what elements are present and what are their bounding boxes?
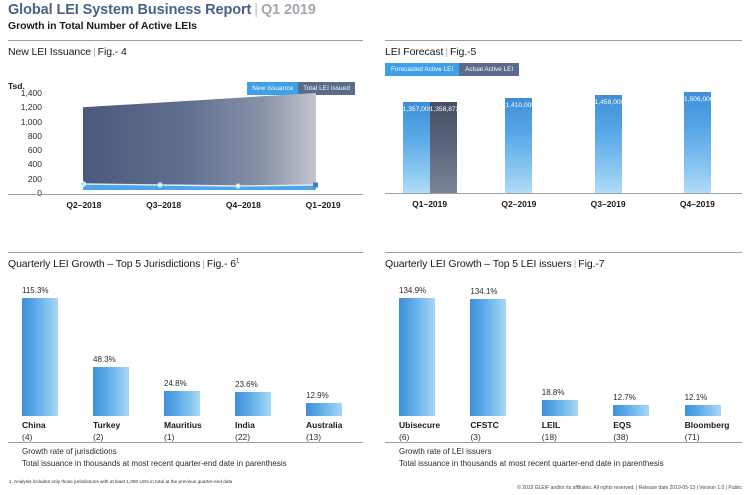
fig4-total-lei-area <box>83 93 316 190</box>
fig5-title-text: LEI Forecast <box>385 46 443 58</box>
fig4-x-axis: Q2–2018Q3–2018Q4–2018Q1–2019 <box>44 200 363 210</box>
fig4-y-tick: 800 <box>28 131 42 141</box>
title-separator: | <box>251 2 261 18</box>
page-title: Global LEI System Business Report|Q1 201… <box>8 2 316 18</box>
fig4-x-tick: Q3–2018 <box>124 200 204 210</box>
fig6-category-label: Australia <box>306 420 342 430</box>
fig6-bar: 24.8% <box>164 391 200 416</box>
report-period: Q1 2019 <box>261 2 316 18</box>
fig7-notes: Growth rate of LEI issuers Total issuanc… <box>399 446 664 469</box>
fig7-title: Quarterly LEI Growth – Top 5 LEI issuers… <box>385 258 742 270</box>
fig5-legend: Forecasted Active LEI Actual Active LEI <box>385 63 519 76</box>
fig6-title-separator: | <box>200 258 207 270</box>
fig6-bar-item: 48.3% <box>93 367 129 416</box>
fig5-bar-group: 1,357,0001,358,872 <box>403 102 457 193</box>
fig7-bar: 12.7% <box>613 405 649 416</box>
fig7-category-label: Ubisecure <box>399 420 440 430</box>
fig7-bar-value: 12.7% <box>613 393 663 402</box>
fig5-bar-value: 1,358,872 <box>430 106 457 113</box>
fig5-x-axis: Q1–2019Q2–2019Q3–2019Q4–2019 <box>385 199 742 209</box>
fig7-category-label: Bloomberg <box>685 420 730 430</box>
fig6-category-sublabel: (22) <box>235 432 250 442</box>
fig7-note-line2: Total issuance in thousands at most rece… <box>399 458 664 470</box>
fig7-bar: 134.9% <box>399 298 435 416</box>
fig6-bar: 23.6% <box>235 392 271 416</box>
fig7-bar-item: 12.7% <box>613 405 649 416</box>
fig5-bar-forecasted: 1,506,000 <box>684 92 711 193</box>
fig6-chart: 115.3%48.3%24.8%23.6%12.9% China(4)Turke… <box>8 274 363 434</box>
fig6-bar-value: 48.3% <box>93 355 143 364</box>
fig7-bar-value: 18.8% <box>542 388 592 397</box>
fig4-y-tick: 200 <box>28 174 42 184</box>
fig4-plot-area <box>44 93 355 194</box>
fig4-y-tick: 600 <box>28 145 42 155</box>
fig5-x-axis-line <box>385 193 742 194</box>
fig6-category-sublabel: (13) <box>306 432 321 442</box>
panel-divider <box>385 40 742 41</box>
report-title: Global LEI System Business Report <box>8 2 251 18</box>
fig5-bar-forecasted: 1,410,000 <box>505 98 532 193</box>
fig7-bar-item: 12.1% <box>685 405 721 416</box>
fig6-category-sublabel: (1) <box>164 432 174 442</box>
fig5-x-tick: Q3–2019 <box>564 199 653 209</box>
fig6-figure-number: Fig.- 6 <box>207 258 236 270</box>
fig6-bar-value: 115.3% <box>22 286 72 295</box>
panel-top5-lei-issuers: Quarterly LEI Growth – Top 5 LEI issuers… <box>385 252 742 434</box>
fig7-notes-divider <box>385 442 742 443</box>
fig5-title-separator: | <box>443 46 450 58</box>
fig4-y-tick: 1,200 <box>21 102 42 112</box>
fig7-category-sublabel: (6) <box>399 432 409 442</box>
fig7-bar-item: 18.8% <box>542 400 578 416</box>
fig4-marker <box>236 184 241 189</box>
fig7-category-label: LEIL <box>542 420 560 430</box>
fig7-bar-value: 12.1% <box>685 393 735 402</box>
fig6-category-label: India <box>235 420 255 430</box>
fig5-bar-group: 1,506,000 <box>684 92 711 193</box>
fig6-title: Quarterly LEI Growth – Top 5 Jurisdictio… <box>8 258 363 270</box>
fig7-bar-item: 134.9% <box>399 298 435 416</box>
fig5-bar-value: 1,506,000 <box>684 96 711 103</box>
fig5-figure-number: Fig.-5 <box>450 46 476 58</box>
fig6-plot-area: 115.3%48.3%24.8%23.6%12.9% <box>8 298 363 416</box>
fig7-category-sublabel: (38) <box>613 432 628 442</box>
fig7-plot-area: 134.9%134.1%18.8%12.7%12.1% <box>385 298 742 416</box>
panel-divider <box>8 40 363 41</box>
fig6-category-label: Turkey <box>93 420 120 430</box>
fig6-category-sublabel: (2) <box>93 432 103 442</box>
fig5-plot-area: 1,357,0001,358,8721,410,0001,458,0001,50… <box>385 79 742 193</box>
panel-top5-jurisdictions: Quarterly LEI Growth – Top 5 Jurisdictio… <box>8 252 363 434</box>
fig5-bar-forecasted: 1,357,000 <box>403 102 430 193</box>
panel-divider <box>385 252 742 253</box>
fig7-bar: 134.1% <box>470 299 506 416</box>
fig4-chart: Tsd. New issuance Total LEI issued 1,400… <box>8 61 363 221</box>
fig7-category-label: EQS <box>613 420 631 430</box>
fig7-category-sublabel: (71) <box>685 432 700 442</box>
panel-lei-forecast: LEI Forecast|Fig.-5 Forecasted Active LE… <box>385 40 742 220</box>
fig7-bar-value: 134.9% <box>399 286 449 295</box>
legend-actual-active-lei: Actual Active LEI <box>459 63 519 76</box>
fig6-bar-item: 23.6% <box>235 392 271 416</box>
fig4-y-axis: 1,4001,2001,0008006004002000 <box>8 93 42 193</box>
fig6-note-line2: Total issuance in thousands at most rece… <box>22 458 287 470</box>
fig4-y-tick: 0 <box>37 188 42 198</box>
fig7-note-line1: Growth rate of LEI issuers <box>399 446 664 458</box>
fig6-note-line1: Growth rate of jurisdictions <box>22 446 287 458</box>
fig4-title: New LEI Issuance|Fig.- 4 <box>8 46 363 58</box>
panel-divider <box>8 252 363 253</box>
fig6-bar: 48.3% <box>93 367 129 416</box>
fig6-bar-value: 24.8% <box>164 379 214 388</box>
fig6-bar-value: 23.6% <box>235 380 285 389</box>
fig5-bar-group: 1,410,000 <box>505 98 532 193</box>
legend-forecasted-active-lei: Forecasted Active LEI <box>385 63 459 76</box>
fig7-category-label: CFSTC <box>470 420 498 430</box>
fig7-bar-value: 134.1% <box>470 287 520 296</box>
fig5-x-tick: Q4–2019 <box>653 199 742 209</box>
fig7-category-sublabel: (18) <box>542 432 557 442</box>
fig6-notes: Growth rate of jurisdictions Total issua… <box>22 446 287 469</box>
fig5-x-tick: Q2–2019 <box>474 199 563 209</box>
fig6-category-label: China <box>22 420 46 430</box>
fig4-marker <box>158 183 163 188</box>
report-page: Global LEI System Business Report|Q1 201… <box>0 0 750 495</box>
panel-new-lei-issuance: New LEI Issuance|Fig.- 4 Tsd. New issuan… <box>8 40 363 221</box>
fig6-footnote-marker: 1 <box>236 259 239 265</box>
fig4-title-text: New LEI Issuance <box>8 46 91 58</box>
fig5-chart: Forecasted Active LEI Actual Active LEI … <box>385 60 742 220</box>
fig6-category-label: Mauritius <box>164 420 202 430</box>
fig6-category-sublabel: (4) <box>22 432 32 442</box>
fig4-x-tick: Q2–2018 <box>44 200 124 210</box>
fig5-x-tick: Q1–2019 <box>385 199 474 209</box>
copyright-footer: © 2019 GLEIF and/or its affiliates. All … <box>517 485 742 491</box>
fig5-bar-actual: 1,358,872 <box>430 102 457 193</box>
fig4-y-tick: 400 <box>28 159 42 169</box>
fig7-bar: 12.1% <box>685 405 721 416</box>
fig6-bar-item: 115.3% <box>22 298 58 416</box>
fig7-category-sublabel: (3) <box>470 432 480 442</box>
fig5-bar-value: 1,357,000 <box>403 106 430 113</box>
fig7-chart: 134.9%134.1%18.8%12.7%12.1% Ubisecure(6)… <box>385 274 742 434</box>
fig7-bar-item: 134.1% <box>470 299 506 416</box>
fig4-svg <box>44 93 355 194</box>
fig6-bar: 115.3% <box>22 298 58 416</box>
fig6-footnote: 1. Analysis includes only those jurisdic… <box>9 479 232 484</box>
fig4-x-tick: Q4–2018 <box>204 200 284 210</box>
fig5-title: LEI Forecast|Fig.-5 <box>385 46 742 58</box>
fig5-bar-forecasted: 1,458,000 <box>595 95 622 193</box>
fig4-y-tick: 1,400 <box>21 88 42 98</box>
fig4-x-axis-line <box>8 194 363 195</box>
fig6-bar-value: 12.9% <box>306 391 356 400</box>
fig4-y-tick: 1,000 <box>21 117 42 127</box>
fig5-bar-value: 1,458,000 <box>595 99 622 106</box>
fig6-bar: 12.9% <box>306 403 342 416</box>
fig6-notes-divider <box>8 442 363 443</box>
fig4-figure-number: Fig.- 4 <box>98 46 127 58</box>
fig4-x-tick: Q1–2019 <box>283 200 363 210</box>
fig6-title-text: Quarterly LEI Growth – Top 5 Jurisdictio… <box>8 258 200 270</box>
fig5-bar-value: 1,410,000 <box>505 102 532 109</box>
fig7-title-text: Quarterly LEI Growth – Top 5 LEI issuers <box>385 258 572 270</box>
report-subtitle: Growth in Total Number of Active LEIs <box>8 20 316 32</box>
fig4-title-separator: | <box>91 46 98 58</box>
report-header: Global LEI System Business Report|Q1 201… <box>8 2 316 32</box>
fig7-figure-number: Fig.-7 <box>578 258 604 270</box>
fig6-bar-item: 12.9% <box>306 403 342 416</box>
fig6-bar-item: 24.8% <box>164 391 200 416</box>
fig4-marker <box>313 183 318 188</box>
fig7-bar: 18.8% <box>542 400 578 416</box>
fig5-bar-group: 1,458,000 <box>595 95 622 193</box>
fig4-marker <box>81 182 86 187</box>
